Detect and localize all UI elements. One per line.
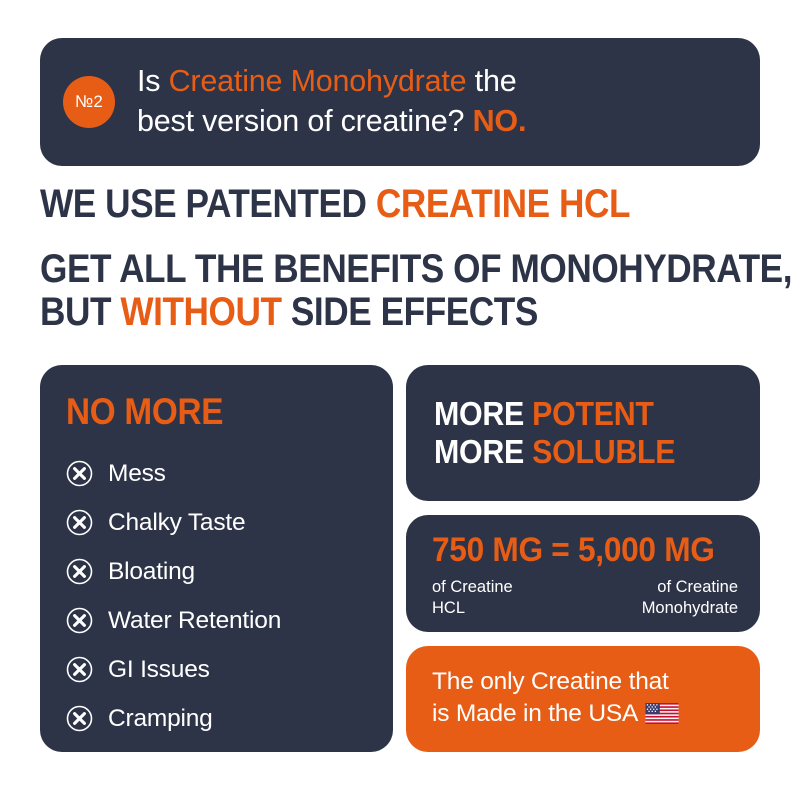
made-in-usa-text: The only Creatine that is Made in the US… — [432, 666, 679, 731]
question-line1-before: Is — [137, 64, 169, 98]
headline-line-2: GET ALL THE BENEFITS OF MONOHYDRATE, — [40, 248, 682, 291]
circle-x-icon — [66, 460, 93, 487]
headline-3-accent: WITHOUT — [120, 290, 281, 334]
question-line1-after: the — [466, 64, 516, 98]
no-more-title: NO MORE — [66, 391, 341, 433]
dose-caption-left: of Creatine HCL — [432, 577, 513, 619]
circle-x-icon — [66, 607, 93, 634]
list-item-label: Water Retention — [108, 607, 281, 635]
headline-3-plain-before: BUT — [40, 290, 120, 334]
question-line1-accent: Creatine Monohydrate — [169, 64, 467, 98]
list-item: Chalky Taste — [66, 498, 371, 547]
list-item: Water Retention — [66, 596, 371, 645]
circle-x-icon — [66, 705, 93, 732]
no-more-list: Mess Chalky Taste Bloati — [66, 449, 371, 743]
potent-line: MORE POTENT — [434, 395, 734, 433]
potent-soluble-card: MORE POTENT MORE SOLUBLE — [406, 365, 760, 501]
headline-1-plain: WE USE PATENTED — [40, 182, 376, 226]
question-line2-before: best version of creatine? — [137, 104, 473, 138]
potent-line-plain: MORE — [434, 395, 532, 432]
infographic-canvas: №2 Is Creatine Monohydrate the best vers… — [0, 0, 800, 800]
made-in-usa-card: The only Creatine that is Made in the US… — [406, 646, 760, 752]
question-card: №2 Is Creatine Monohydrate the best vers… — [40, 38, 760, 166]
question-answer-no: NO — [473, 104, 518, 138]
dose-captions: of Creatine HCL of Creatine Monohydrate — [432, 577, 738, 619]
dose-comparison-card: 750 MG = 5,000 MG of Creatine HCL of Cre… — [406, 515, 760, 632]
soluble-line: MORE SOLUBLE — [434, 433, 734, 471]
right-column: MORE POTENT MORE SOLUBLE 750 MG = 5,000 … — [406, 365, 760, 752]
headline-line-1: WE USE PATENTED CREATINE HCL — [40, 183, 682, 226]
list-item: Bloating — [66, 547, 371, 596]
headline-block: WE USE PATENTED CREATINE HCL GET ALL THE… — [40, 183, 770, 335]
circle-x-icon — [66, 509, 93, 536]
soluble-line-plain: MORE — [434, 433, 532, 470]
headline-line-3: BUT WITHOUT SIDE EFFECTS — [40, 291, 682, 334]
dose-equation: 750 MG = 5,000 MG — [432, 531, 717, 570]
list-item-label: GI Issues — [108, 656, 210, 684]
step-number-badge: №2 — [63, 76, 115, 128]
list-item: GI Issues — [66, 645, 371, 694]
soluble-line-accent: SOLUBLE — [532, 433, 675, 470]
usa-line-1: The only Creatine that — [432, 668, 669, 695]
question-answer-period: . — [518, 104, 526, 138]
no-more-card: NO MORE Mess Chalky Taste — [40, 365, 393, 752]
list-item: Cramping — [66, 694, 371, 743]
list-item-label: Cramping — [108, 705, 213, 733]
list-item-label: Bloating — [108, 558, 195, 586]
list-item-label: Mess — [108, 460, 166, 488]
list-item-label: Chalky Taste — [108, 509, 245, 537]
usa-line-2: is Made in the USA — [432, 700, 638, 727]
list-item: Mess — [66, 449, 371, 498]
us-flag-icon — [645, 701, 679, 732]
question-text: Is Creatine Monohydrate the best version… — [137, 62, 526, 141]
headline-3-plain-after: SIDE EFFECTS — [282, 290, 538, 334]
potent-line-accent: POTENT — [532, 395, 653, 432]
circle-x-icon — [66, 656, 93, 683]
step-number-label: №2 — [75, 92, 103, 112]
dose-caption-right: of Creatine Monohydrate — [642, 577, 738, 619]
circle-x-icon — [66, 558, 93, 585]
headline-1-accent: CREATINE HCL — [376, 182, 630, 226]
